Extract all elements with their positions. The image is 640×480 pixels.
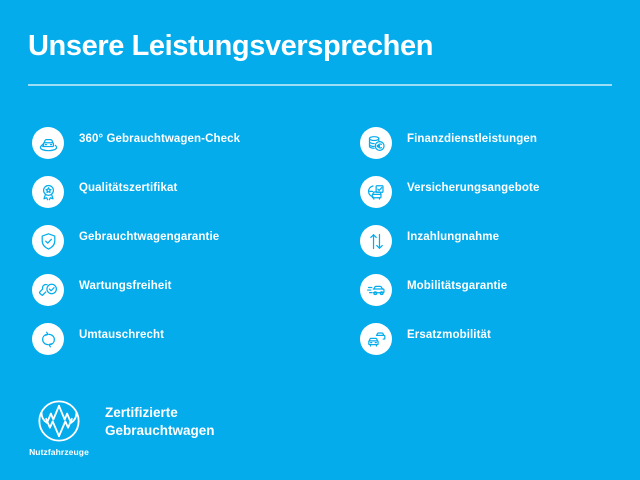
title-divider [28,84,612,86]
promise-label: Ersatzmobilität [407,330,491,342]
page-title: Unsere Leistungsversprechen [28,30,433,63]
promise-label: Versicherungsangebote [407,183,539,195]
slide-root: Unsere Leistungsversprechen 360° Gebrauc… [0,0,640,480]
logo-subtitle: Nutzfahrzeuge [29,447,89,457]
promise-label: Qualitätszertifikat [79,183,177,195]
two-cars-icon [360,323,392,355]
promises-right-column: Finanzdienstleistungen Versicherungsange… [360,120,630,365]
promise-label: Wartungsfreiheit [79,281,172,293]
promise-item-umtauschrecht[interactable]: Umtauschrecht [32,316,332,365]
volkswagen-logo [36,398,82,444]
car-document-check-icon [360,176,392,208]
promise-label: 360° Gebrauchtwagen-Check [79,134,240,146]
promise-item-gebrauchtwagengarantie[interactable]: Gebrauchtwagengarantie [32,218,332,267]
promise-item-wartungsfreiheit[interactable]: Wartungsfreiheit [32,267,332,316]
promise-label: Mobilitätsgarantie [407,281,507,293]
wrench-check-icon [32,274,64,306]
exchange-arrows-icon [32,323,64,355]
footer-claim: Zertifizierte Gebrauchtwagen [105,404,215,440]
footer-claim-line2: Gebrauchtwagen [105,422,215,440]
car-360-check-icon [32,127,64,159]
promise-label: Finanzdienstleistungen [407,134,537,146]
volkswagen-logo-block: Nutzfahrzeuge [28,398,90,457]
promise-item-mobilitaetsgarantie[interactable]: Mobilitätsgarantie [360,267,630,316]
promise-label: Umtauschrecht [79,330,164,342]
promise-item-360-check[interactable]: 360° Gebrauchtwagen-Check [32,120,332,169]
promise-label: Gebrauchtwagengarantie [79,232,219,244]
promise-label: Inzahlungnahme [407,232,499,244]
promise-item-finanzdienstleistungen[interactable]: Finanzdienstleistungen [360,120,630,169]
shield-check-icon [32,225,64,257]
car-speed-icon [360,274,392,306]
up-down-arrows-icon [360,225,392,257]
promises-left-column: 360° Gebrauchtwagen-Check Qualitätszerti… [32,120,332,365]
promise-item-ersatzmobilitaet[interactable]: Ersatzmobilität [360,316,630,365]
award-rosette-icon [32,176,64,208]
footer-claim-line1: Zertifizierte [105,404,215,422]
promise-item-inzahlungnahme[interactable]: Inzahlungnahme [360,218,630,267]
footer: Nutzfahrzeuge Zertifizierte Gebrauchtwag… [28,398,215,457]
promise-item-qualitaetszertifikat[interactable]: Qualitätszertifikat [32,169,332,218]
coins-euro-icon [360,127,392,159]
promise-item-versicherungsangebote[interactable]: Versicherungsangebote [360,169,630,218]
